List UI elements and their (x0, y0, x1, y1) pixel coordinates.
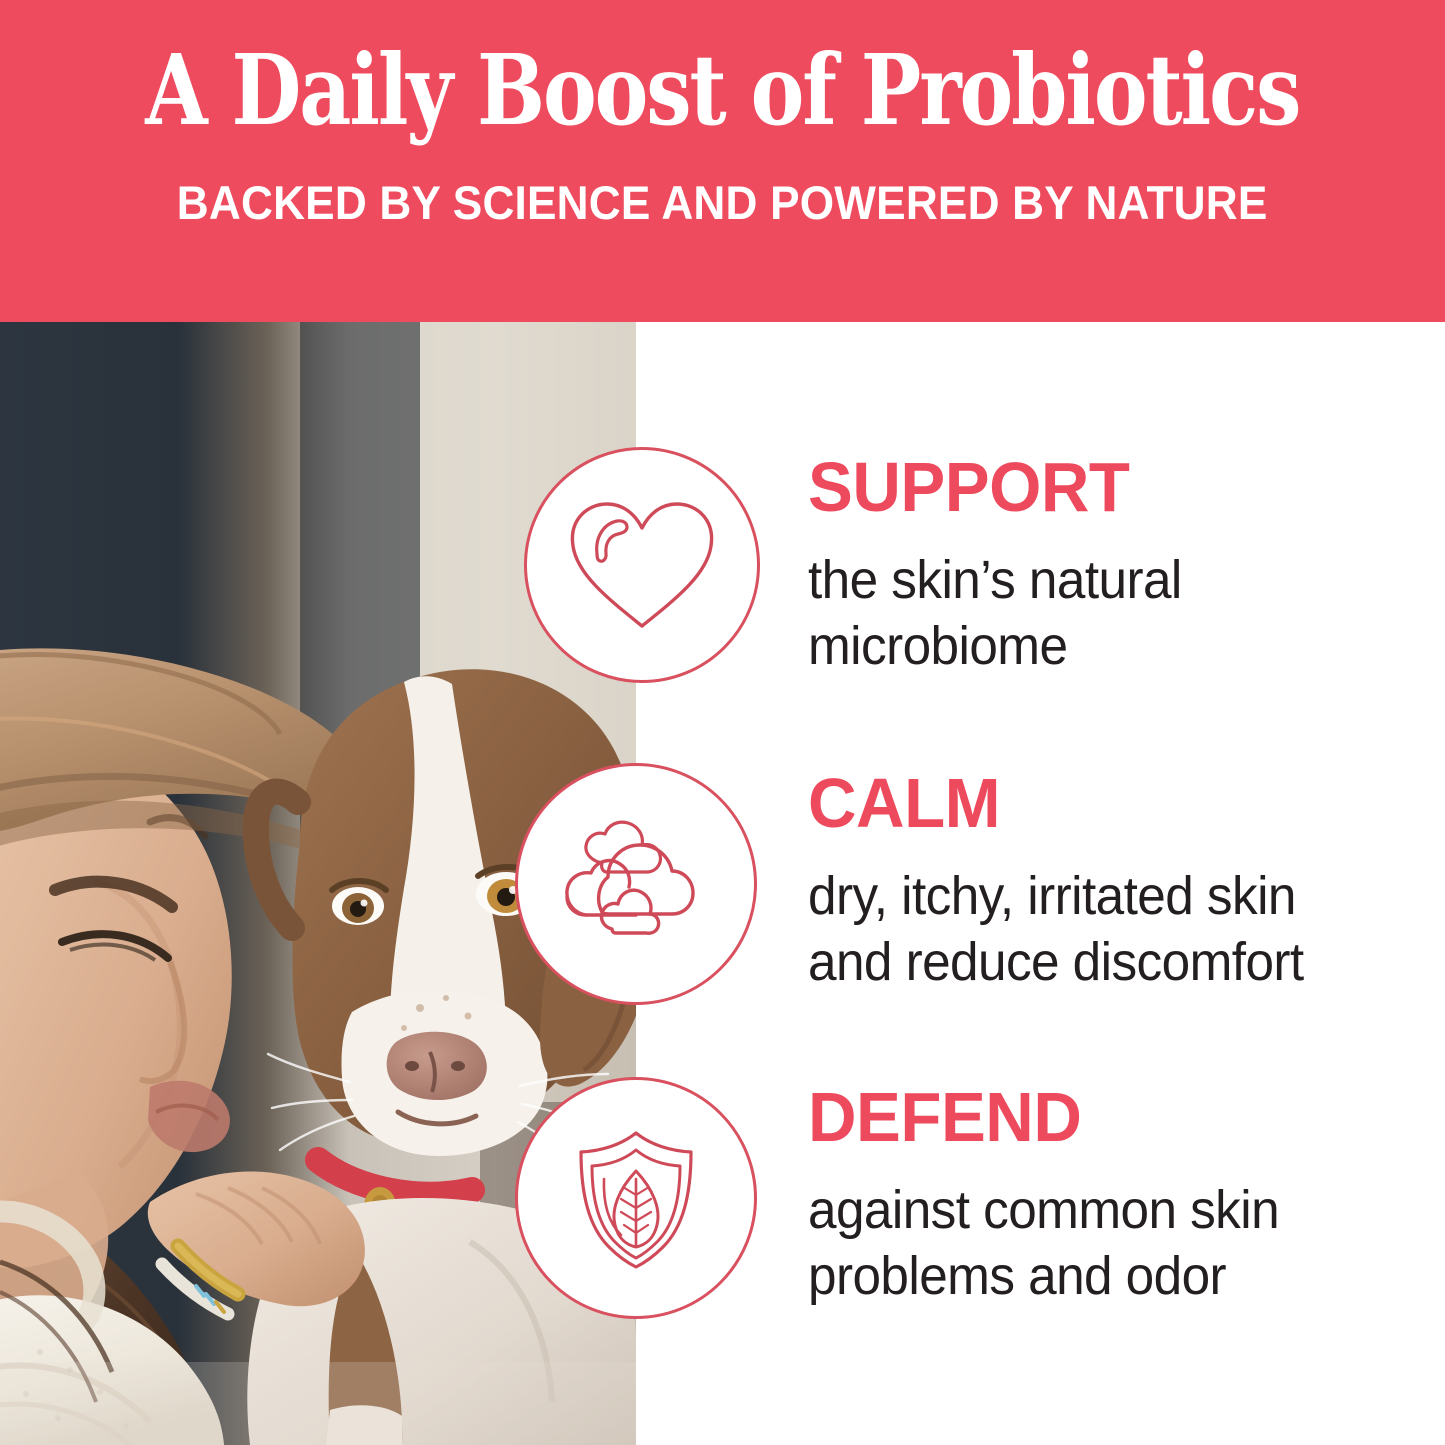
benefit-body-calm: dry, itchy, irritated skin and reduce di… (808, 864, 1407, 996)
page-title: A Daily Boost of Probiotics (145, 42, 1299, 139)
benefit-body-support: the skin’s natural microbiome (808, 548, 1397, 680)
page-subtitle: BACKED BY SCIENCE AND POWERED BY NATURE (177, 179, 1268, 226)
clouds-icon (558, 817, 714, 951)
heart-icon-badge (524, 447, 760, 683)
header-banner: A Daily Boost of Probiotics BACKED BY SC… (0, 0, 1445, 322)
benefit-calm: CALM dry, itchy, irritated skin and redu… (808, 768, 1438, 996)
benefit-body-line: problems and odor (808, 1244, 1397, 1310)
benefit-support: SUPPORT the skin’s natural microbiome (808, 452, 1428, 680)
benefit-title-defend: DEFEND (808, 1082, 1403, 1152)
shield-leaf-icon (561, 1123, 711, 1273)
benefit-defend: DEFEND against common skin problems and … (808, 1082, 1428, 1310)
benefit-body-line: the skin’s natural (808, 548, 1397, 614)
benefit-title-support: SUPPORT (808, 452, 1403, 522)
heart-icon (567, 498, 717, 632)
benefit-title-calm: CALM (808, 768, 1413, 838)
clouds-icon-badge (515, 763, 757, 1005)
shield-leaf-icon-badge (515, 1077, 757, 1319)
benefit-body-line: against common skin (808, 1178, 1397, 1244)
benefit-body-line: dry, itchy, irritated skin (808, 864, 1407, 930)
benefit-body-line: microbiome (808, 614, 1397, 680)
benefit-body-line: and reduce discomfort (808, 930, 1407, 996)
infographic-canvas: A Daily Boost of Probiotics BACKED BY SC… (0, 0, 1445, 1445)
benefit-body-defend: against common skin problems and odor (808, 1178, 1397, 1310)
